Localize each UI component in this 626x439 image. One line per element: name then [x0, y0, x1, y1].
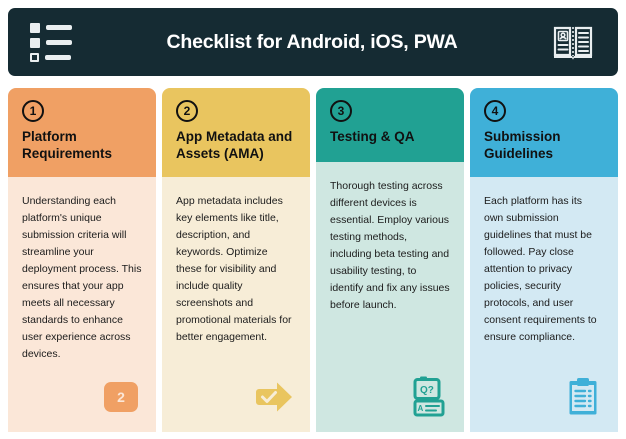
card-header: 4 Submission Guidelines [470, 88, 618, 177]
card-title: Testing & QA [330, 129, 450, 146]
card-submission-guidelines[interactable]: 4 Submission Guidelines Each platform ha… [470, 88, 618, 432]
page-title: Checklist for Android, iOS, PWA [74, 31, 550, 54]
bulleted-list-icon [30, 22, 74, 62]
card-app-metadata-and-assets[interactable]: 2 App Metadata and Assets (AMA) App meta… [162, 88, 310, 432]
card-body: Thorough testing across different device… [316, 162, 464, 432]
list-icon-square-hollow [30, 53, 39, 62]
list-icon-bar [46, 25, 72, 30]
list-icon-bar [45, 55, 71, 60]
question-answer-icon: Q? A [408, 376, 450, 418]
card-title: App Metadata and Assets (AMA) [176, 129, 296, 163]
card-header: 2 App Metadata and Assets (AMA) [162, 88, 310, 177]
card-number-badge: 3 [330, 100, 352, 122]
open-book-icon [550, 21, 596, 63]
svg-text:Q?: Q? [420, 385, 434, 396]
card-text: Each platform has its own submission gui… [484, 193, 604, 346]
list-icon-square [30, 38, 40, 48]
arrow-right-check-icon [254, 376, 296, 418]
list-icon-bar [46, 40, 72, 45]
list-icon-row [30, 38, 74, 48]
card-title: Submission Guidelines [484, 129, 604, 163]
card-text: Understanding each platform's unique sub… [22, 193, 142, 363]
badge-number-label: 2 [104, 382, 138, 412]
list-icon-row [30, 23, 74, 33]
card-text: Thorough testing across different device… [330, 178, 450, 314]
card-number-badge: 2 [176, 100, 198, 122]
card-number-badge: 4 [484, 100, 506, 122]
card-header: 3 Testing & QA [316, 88, 464, 162]
card-body: Understanding each platform's unique sub… [8, 177, 156, 432]
header-bar: Checklist for Android, iOS, PWA [8, 8, 618, 76]
card-body: App metadata includes key elements like … [162, 177, 310, 432]
list-icon-square [30, 23, 40, 33]
checklist-cards: 1 Platform Requirements Understanding ea… [8, 88, 618, 432]
card-body: Each platform has its own submission gui… [470, 177, 618, 432]
svg-text:A: A [418, 404, 424, 413]
card-title: Platform Requirements [22, 129, 142, 163]
number-two-badge-icon: 2 [100, 376, 142, 418]
card-testing-and-qa[interactable]: 3 Testing & QA Thorough testing across d… [316, 88, 464, 432]
list-icon-row [30, 53, 74, 62]
clipboard-checklist-icon [562, 376, 604, 418]
card-number-badge: 1 [22, 100, 44, 122]
card-header: 1 Platform Requirements [8, 88, 156, 177]
card-text: App metadata includes key elements like … [176, 193, 296, 346]
card-platform-requirements[interactable]: 1 Platform Requirements Understanding ea… [8, 88, 156, 432]
